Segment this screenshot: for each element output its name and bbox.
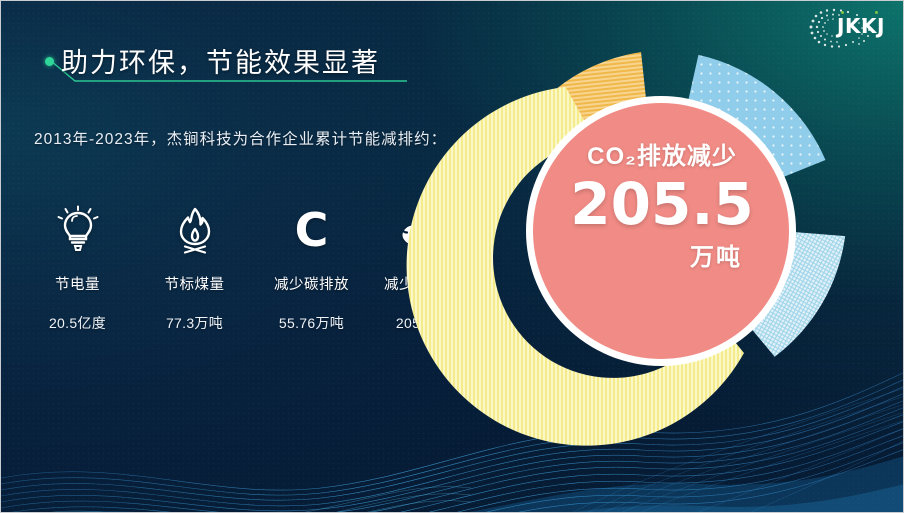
donut-center-circle	[533, 103, 789, 359]
stat-item-carbon: C 减少碳排放 55.76万吨	[253, 199, 370, 333]
logo-accent-dot	[875, 11, 878, 14]
page-title: 助力环保，节能效果显著	[45, 45, 465, 93]
flame-icon	[136, 199, 253, 261]
title-text: 助力环保，节能效果显著	[61, 41, 380, 80]
stat-item-electricity: 节电量 20.5亿度	[19, 199, 136, 333]
stat-label: 节电量	[19, 273, 136, 294]
stat-label: 减少碳排放	[253, 273, 370, 294]
stat-value: 20.5亿度	[19, 313, 136, 333]
carbon-c-icon: C	[253, 199, 370, 261]
stat-label: 节标煤量	[136, 273, 253, 294]
intro-paragraph: 2013年-2023年，杰锏科技为合作企业累计节能减排约：	[34, 127, 484, 153]
stat-item-coal: 节标煤量 77.3万吨	[136, 199, 253, 333]
stat-value: 77.3万吨	[136, 313, 253, 333]
stat-value: 55.76万吨	[253, 313, 370, 333]
logo-text: JKKJ	[837, 14, 885, 38]
title-accent-dot	[45, 57, 54, 66]
jkkj-logo: JKKJ	[797, 5, 893, 51]
logo-accent-dot	[841, 11, 844, 14]
slide-canvas: JKKJ 助力环保，节能效果显著 2013年-2023年，杰锏科技为合作企业累计…	[0, 0, 904, 513]
carbon-c-glyph: C	[295, 207, 329, 253]
lightbulb-icon	[19, 199, 136, 261]
donut-chart: CO₂排放减少 205.5 万吨	[481, 51, 841, 411]
